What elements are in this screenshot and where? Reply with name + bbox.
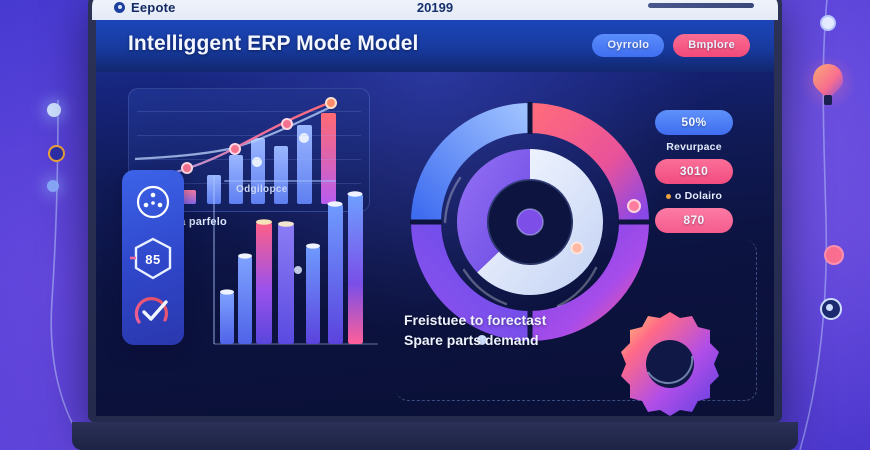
gear-icon[interactable] (614, 308, 726, 416)
kpi-badge-value-b[interactable]: 870 (655, 208, 733, 233)
hexagon-score-value: 85 (130, 236, 176, 282)
explore-button[interactable]: Bmplore (673, 34, 750, 57)
lightbulb-icon (812, 62, 844, 110)
decor-node-left-2 (48, 145, 65, 162)
window-control-bar[interactable] (648, 3, 754, 8)
decor-node-left-1 (47, 103, 61, 117)
kpi-badge-list: 50% Revurpace 3010 o Dolairo 870 (638, 110, 750, 233)
browser-top-bar: Eepote 20199 (92, 0, 778, 20)
kpi-caption-dolairo-text: o Dolairo (675, 190, 722, 202)
kpi-badge-value-a[interactable]: 3010 (655, 159, 733, 184)
gauge-check-icon[interactable] (132, 290, 174, 332)
kpi-caption-dolairo: o Dolairo (666, 190, 722, 202)
kpi-caption-resource: Revurpace (666, 141, 722, 153)
app-screen: Intelliggent ERP Mode Model Oyrrolo Bmpl… (96, 20, 774, 416)
bar-chart-panel[interactable]: Odgilopce (200, 172, 380, 350)
gridline (137, 135, 361, 136)
kpi-badge-percent[interactable]: 50% (655, 110, 733, 135)
options-button[interactable]: Oyrrolo (592, 34, 664, 57)
bullet-dot-icon (666, 194, 671, 199)
hexagon-score-icon[interactable]: 85 (130, 236, 176, 282)
forecast-caption: Freistuee to forectast Spare parts deman… (404, 310, 634, 351)
gridline (137, 159, 361, 160)
screenshot-root: Eepote 20199 Intelliggent ERP Mode Model… (0, 0, 870, 450)
bar-chart-label: Odgilopce (236, 184, 288, 195)
decor-node-right-3-core (826, 304, 833, 311)
decor-node-left-3 (47, 180, 59, 192)
decor-node-right-2 (824, 245, 844, 265)
forecast-caption-line1: Freistuee to forectast (404, 310, 634, 330)
kpi-caption-resource-text: Revurpace (666, 141, 722, 153)
network-nodes-icon[interactable] (135, 184, 171, 220)
bar-chart-label-rule (224, 180, 336, 182)
header-actions: Oyrrolo Bmplore (592, 34, 750, 57)
page-title: Intelliggent ERP Mode Model (128, 32, 419, 56)
icon-rail: 85 (122, 170, 184, 345)
device-base (72, 422, 798, 450)
forecast-caption-line2: Spare parts demand (404, 330, 634, 350)
app-header: Intelliggent ERP Mode Model Oyrrolo Bmpl… (96, 20, 774, 72)
gridline (137, 111, 361, 112)
bar-chart-svg (200, 172, 380, 350)
decor-node-right-1 (820, 15, 836, 31)
